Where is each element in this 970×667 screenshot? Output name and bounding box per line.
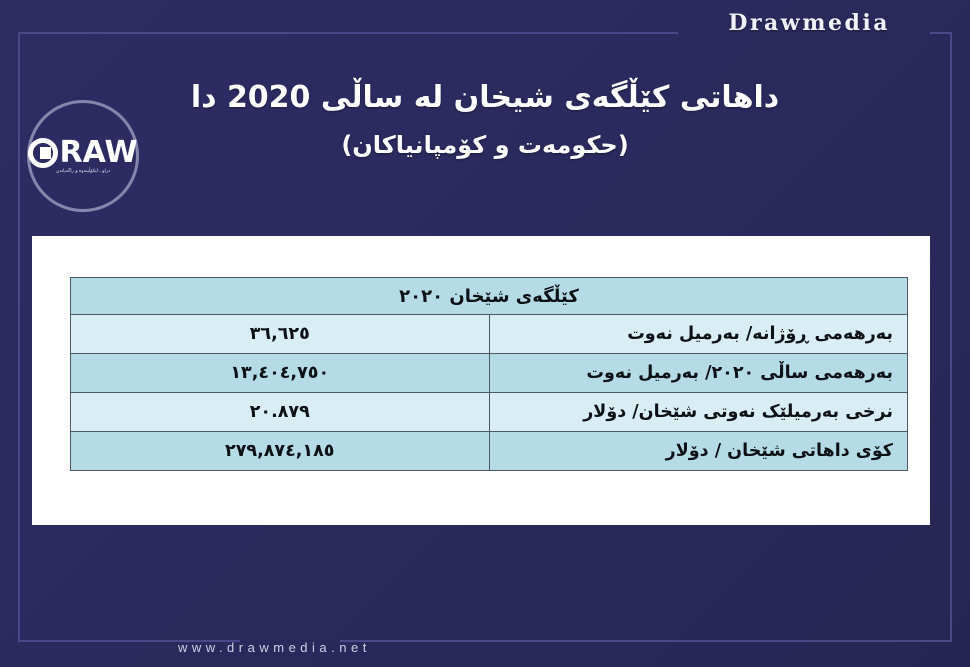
row-value: ١٣,٤٠٤,٧٥٠	[71, 354, 490, 393]
table-row: کۆی داهاتی شێخان / دۆلار ٢٧٩,٨٧٤,١٨٥	[71, 432, 908, 471]
table-row: بەرهەمی ساڵی ٢٠٢٠/ بەرمیل نەوت ١٣,٤٠٤,٧٥…	[71, 354, 908, 393]
row-value: ٢٠.٨٧٩	[71, 393, 490, 432]
row-label: کۆی داهاتی شێخان / دۆلار	[489, 432, 908, 471]
logo-tagline: دراو ـ لێکۆڵینەوە و راگەیاندن	[56, 170, 110, 175]
row-label: بەرهەمی ڕۆژانە/ بەرمیل نەوت	[489, 315, 908, 354]
website-url: www.drawmedia.net	[178, 640, 371, 655]
row-label: نرخی بەرمیلێک نەوتی شێخان/ دۆلار	[489, 393, 908, 432]
brand-name: Drawmedia	[728, 10, 890, 36]
row-value: ٢٧٩,٨٧٤,١٨٥	[71, 432, 490, 471]
row-value: ٣٦,٦٢٥	[71, 315, 490, 354]
table-card: کێڵگەی شێخان ٢٠٢٠ بەرهەمی ڕۆژانە/ بەرمیل…	[32, 236, 930, 525]
frame-line-top-left	[18, 32, 678, 34]
page-title: داهاتی کێڵگەی شیخان لە ساڵی 2020 دا	[120, 78, 850, 118]
frame-line-bottom-right	[340, 640, 952, 642]
frame-line-left	[18, 32, 20, 642]
row-label: بەرهەمی ساڵی ٢٠٢٠/ بەرمیل نەوت	[489, 354, 908, 393]
page-subtitle: (حکومەت و کۆمپانیاکان)	[120, 130, 850, 161]
headline-block: داهاتی کێڵگەی شیخان لە ساڵی 2020 دا (حکو…	[120, 78, 850, 161]
frame-line-right	[950, 32, 952, 642]
table-row: نرخی بەرمیلێک نەوتی شێخان/ دۆلار ٢٠.٨٧٩	[71, 393, 908, 432]
poster-canvas: Drawmedia RAW دراو ـ لێکۆڵینەوە و راگەیا…	[0, 0, 970, 667]
table-row: بەرهەمی ڕۆژانە/ بەرمیل نەوت ٣٦,٦٢٥	[71, 315, 908, 354]
logo-d-glyph-icon	[28, 138, 58, 168]
table-body: بەرهەمی ڕۆژانە/ بەرمیل نەوت ٣٦,٦٢٥ بەرهە…	[71, 315, 908, 471]
table-header-title: کێڵگەی شێخان ٢٠٢٠	[71, 278, 908, 315]
shaikan-data-table: کێڵگەی شێخان ٢٠٢٠ بەرهەمی ڕۆژانە/ بەرمیل…	[70, 277, 908, 471]
table-header-row: کێڵگەی شێخان ٢٠٢٠	[71, 278, 908, 315]
frame-line-top-right	[930, 32, 952, 34]
